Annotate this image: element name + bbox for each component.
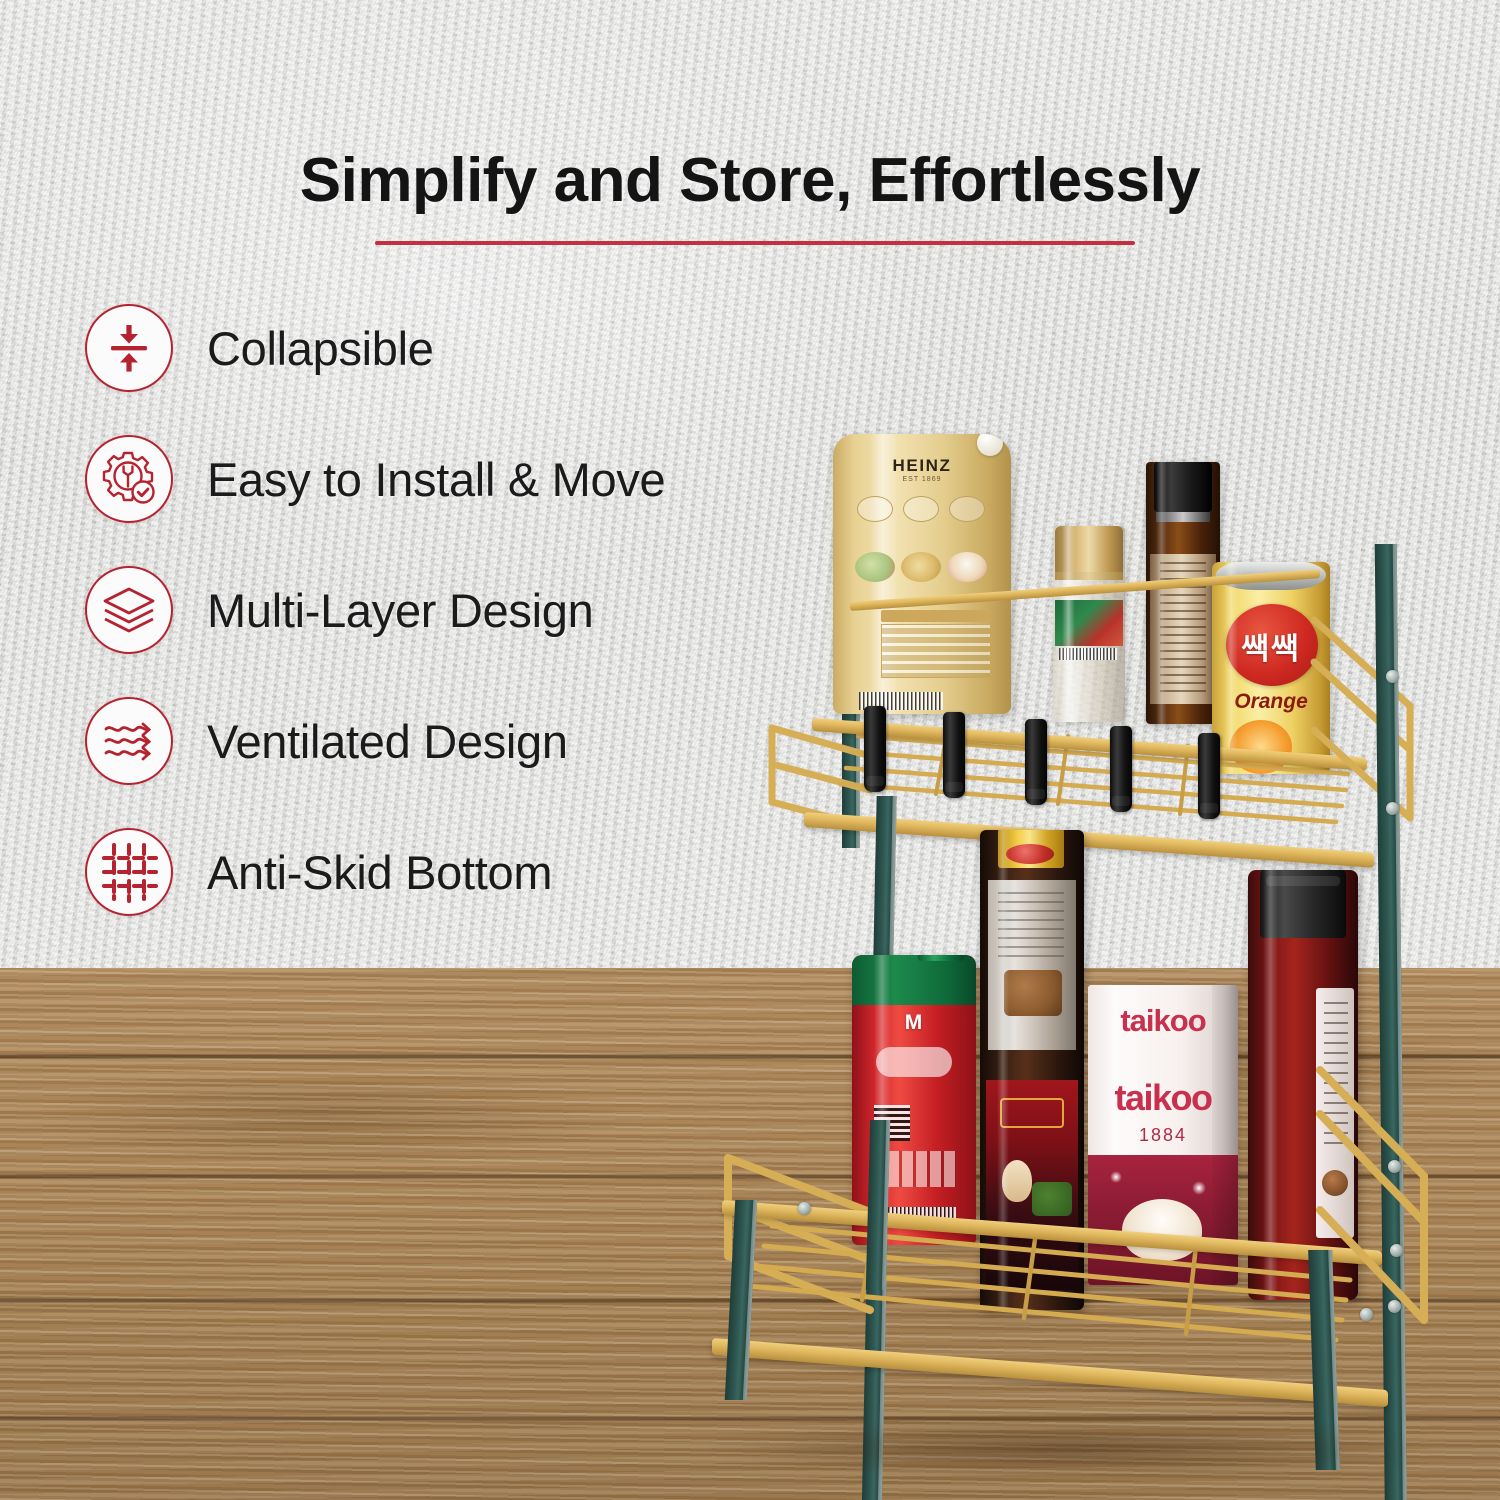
feature-label: Easy to Install & Move <box>207 435 665 523</box>
airflow-arrows-icon <box>85 697 173 785</box>
product-feature-image: Simplify and Store, Effortlessly Collaps… <box>0 0 1500 1500</box>
feature-label: Multi-Layer Design <box>207 566 593 654</box>
feature-item-multi-layer: Multi-Layer Design <box>85 562 785 693</box>
collapse-arrows-icon <box>85 304 173 392</box>
feature-label: Collapsible <box>207 304 434 392</box>
anti-skid-grid-icon <box>85 828 173 916</box>
shelf-clip[interactable] <box>1198 733 1220 819</box>
item-brand-label: M <box>852 1011 976 1035</box>
two-tier-spice-rack: HEINZ EST 1869 <box>700 420 1500 1490</box>
page-title: Simplify and Store, Effortlessly <box>0 145 1500 216</box>
basket-screw <box>1390 1244 1403 1257</box>
item-brand-sub: EST 1869 <box>833 476 1011 483</box>
item-dark-sauce-bottle <box>1146 462 1220 724</box>
post-screw <box>1386 802 1399 815</box>
basket-screw <box>798 1202 811 1215</box>
feature-label: Ventilated Design <box>207 697 568 785</box>
feature-item-ventilated: Ventilated Design <box>85 693 785 824</box>
rack-ground-shadow <box>710 1420 1430 1478</box>
feature-list: Collapsible Easy to Install & Move <box>85 300 785 955</box>
feature-item-anti-skid: Anti-Skid Bottom <box>85 824 785 955</box>
feature-label: Anti-Skid Bottom <box>207 828 552 916</box>
shelf-clip[interactable] <box>1025 719 1047 805</box>
top-basket-right-side <box>1300 610 1420 840</box>
feature-item-easy-install: Easy to Install & Move <box>85 431 785 562</box>
shelf-clip[interactable] <box>1110 726 1132 812</box>
feature-item-collapsible: Collapsible <box>85 300 785 431</box>
gear-wrench-check-icon <box>85 435 173 523</box>
item-brand-label: HEINZ <box>833 456 1011 476</box>
title-underline-rule <box>375 241 1135 245</box>
stacked-layers-icon <box>85 566 173 654</box>
post-screw <box>1386 670 1399 683</box>
basket-screw <box>1360 1308 1373 1321</box>
shelf-clip[interactable] <box>864 706 886 792</box>
shelf-clip[interactable] <box>943 712 965 798</box>
